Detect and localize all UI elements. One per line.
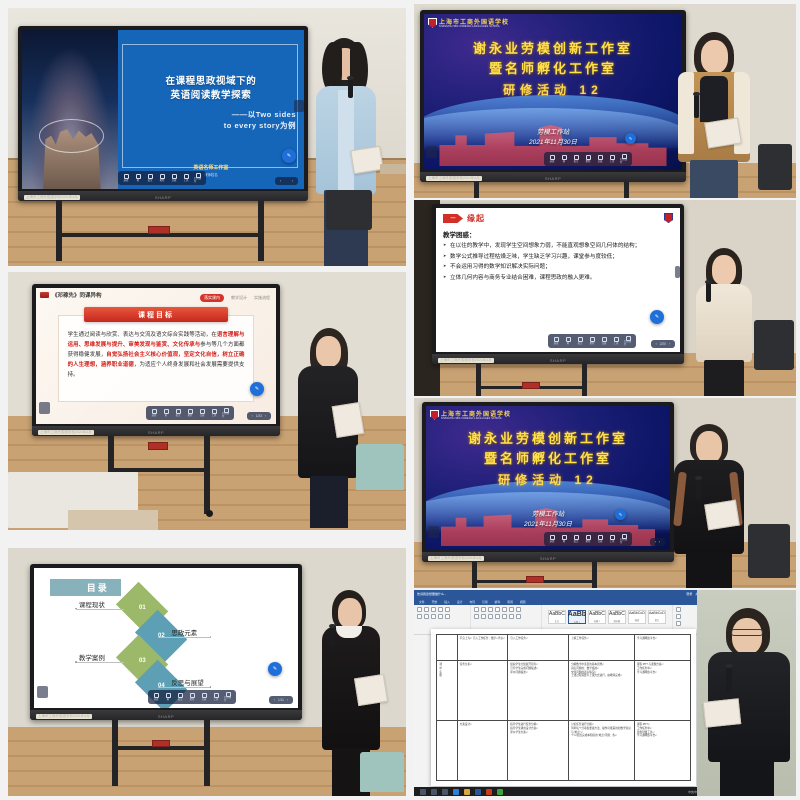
font-color-icon[interactable] (445, 614, 450, 619)
marker-icon[interactable]: 批注 (576, 336, 584, 346)
sort-icon[interactable] (509, 607, 514, 612)
display-nameplate (148, 442, 168, 450)
shape-icon[interactable]: 工具 (212, 692, 220, 702)
brand-mark-icon (40, 292, 49, 298)
display-nameplate (148, 226, 170, 234)
tv-brand: SHARP (540, 556, 556, 561)
screen-watermark: 上海市工商外国语学校2021年4月 (426, 176, 482, 181)
side-tray-icon[interactable] (426, 146, 437, 158)
list-item: 不会运用习得的数学知识解决实际问题； (443, 263, 673, 272)
whiteboard-pager[interactable]: ‹ 1/23 › (247, 412, 271, 420)
undo-icon[interactable]: 回到课件 (620, 534, 628, 544)
display-nameplate (526, 576, 544, 583)
row-label (437, 721, 457, 781)
tv-brand: SHARP (155, 195, 171, 200)
table-cell: 了解工作任务↵ (569, 635, 635, 661)
slide-subtitle-block: 劳模工作站 2021年11月30日 (424, 128, 682, 148)
table-cell: 分解数学中涉及的基本思想↵ 真实问题的：数学描述↵ 交流问题的表征情况↵ 上述过… (569, 661, 635, 721)
wechat-icon[interactable] (497, 789, 503, 795)
slide-section-header: 一 缘起 (443, 213, 673, 224)
side-tray-icon[interactable] (428, 526, 439, 538)
screen-watermark: 上海市工商外国语学校2021年4月 (38, 430, 94, 435)
italic-icon[interactable] (424, 614, 429, 619)
glasses-icon (731, 629, 763, 636)
marker-icon[interactable]: 批注 (146, 173, 154, 183)
style-strong[interactable]: AaBbCcD要点 (648, 610, 666, 624)
table-cell: 讨论任务进行分解↵ 列举每个分项各要素方法、操作可能采用的数学知识与“难点”↵ … (569, 721, 635, 781)
pen-circle-icon[interactable]: ✎ (650, 310, 664, 324)
find-icon[interactable] (676, 607, 681, 612)
row-label: 课 中 实 施 (437, 661, 457, 721)
windows-taskbar[interactable]: 中文(中国) (414, 787, 704, 796)
podium (68, 510, 158, 530)
tab-design: 教学设计 (231, 295, 247, 301)
multilevel-icon[interactable] (488, 607, 493, 612)
display-nameplate (152, 740, 170, 747)
presenter-person (308, 38, 378, 266)
table-cell: 指导学生进行任务分解↵ 指导学生通用设计方案↵ 评价学生方案↵ (508, 721, 569, 781)
whiteboard-pager[interactable]: ‹ 1/11 › (269, 696, 293, 704)
slide-frame (122, 44, 299, 168)
slide-tabs: 落实课内 教学设计 实施流程 (200, 294, 270, 302)
whiteboard-pager[interactable]: ‹ 2/20 › (651, 340, 675, 348)
table-row: 不宜上为↵ 引入工作任务：数字+学业↵ 引入工作任务↵ 了解工作任务↵ 学习通网… (437, 635, 690, 661)
align-left-icon[interactable] (474, 614, 479, 619)
align-right-icon[interactable] (488, 614, 493, 619)
list-item: 在以往的教学中，发现学生空间想象力弱，不能直观想象空间几何体的结构； (443, 242, 673, 251)
whiteboard-pager[interactable]: ‹ › (650, 538, 665, 546)
marker-icon[interactable]: 批注 (174, 408, 182, 418)
pen-icon[interactable]: 笔 (164, 692, 172, 702)
side-tray-icon[interactable] (37, 686, 48, 698)
marker-icon[interactable]: 批注 (176, 692, 184, 702)
shape-icon[interactable]: 工具 (608, 534, 616, 544)
undo-icon[interactable]: 回到课件 (222, 408, 230, 418)
tab-insert[interactable]: 插入 (444, 600, 450, 604)
display-screen: 上海市工商外国语学校 SHANGHAI SBC FOREIGN LANGUAGE… (424, 14, 682, 170)
teal-chair (356, 444, 404, 490)
pager-next-icon[interactable]: › (292, 179, 293, 183)
frame-icon[interactable]: 白板 (198, 408, 206, 418)
pager-count: 1/11 (278, 698, 284, 702)
tv-brand: SHARP (545, 176, 561, 181)
powerpoint-icon[interactable] (486, 789, 492, 795)
section-title: 缘起 (467, 213, 485, 224)
pager-prev-icon[interactable]: ‹ (656, 342, 657, 346)
panel-contents-slide: 目录 01 02 03 04 课程现状 思政元素 (8, 548, 406, 796)
undo-icon[interactable]: 回到课件 (620, 154, 628, 164)
tab-view[interactable]: 视图 (520, 600, 526, 604)
card-ribbon: 课程目标 (84, 307, 228, 322)
slide-workshop-title: 上海市工商外国语学校 SHANGHAI SBC FOREIGN LANGUAGE… (426, 406, 670, 550)
underline-icon[interactable] (431, 614, 436, 619)
interactive-display[interactable]: 《邓稼先》同课异构 落实课内 教学设计 实施流程 课程目标 学生通过阅读与欣赏、… (32, 284, 280, 436)
pen-circle-icon[interactable]: ✎ (615, 509, 626, 520)
eraser-icon[interactable]: 擦除 (584, 154, 592, 164)
undo-icon[interactable]: 回到课件 (224, 692, 232, 702)
pen-icon[interactable]: 笔 (134, 173, 142, 183)
pen-icon[interactable]: 笔 (560, 154, 568, 164)
frame-icon[interactable]: 白板 (600, 336, 608, 346)
interactive-display[interactable]: 目录 01 02 03 04 课程现状 思政元素 (30, 564, 302, 720)
search-icon[interactable] (431, 789, 437, 795)
office-chair (326, 190, 372, 230)
slide-title-block: 谢永业劳模创新工作室 暨名师孵化工作室 研修活动 12 (426, 429, 670, 488)
pager-prev-icon[interactable]: ‹ (280, 179, 281, 183)
whiteboard-toolbar[interactable]: 选择 笔 批注 擦除 白板 工具 回到课件 (148, 690, 236, 704)
panel-teaching-problems-slide: 一 缘起 教学困惑： 在以往的教学中，发现学生空间想象力弱，不能直观想象空间几何… (414, 200, 796, 396)
pen-icon[interactable]: 笔 (560, 534, 568, 544)
tab-file[interactable]: 文件 (419, 600, 425, 604)
align-center-icon[interactable] (481, 614, 486, 619)
undo-icon[interactable]: 回到课件 (194, 173, 202, 183)
screen-watermark: 上海市工商外国语学校2021年4月 (24, 195, 80, 200)
shape-icon[interactable]: 工具 (612, 336, 620, 346)
whiteboard-toolbar[interactable]: 选择 笔 批注 擦除 白板 工具 回到课件 (548, 334, 636, 348)
style-normal[interactable]: AaBbC正文 (548, 610, 566, 624)
cursor-icon[interactable]: 选择 (152, 692, 160, 702)
shape-icon[interactable]: 工具 (608, 154, 616, 164)
pen-icon[interactable]: 笔 (564, 336, 572, 346)
table-cell: 学习通网络平台↵ (634, 635, 690, 661)
pen-icon[interactable]: 笔 (162, 408, 170, 418)
show-marks-icon[interactable] (516, 607, 521, 612)
table-cell: 课程 PPT 与课题方案↵ 工作任务单↵ 学习通网络平台↵ (634, 661, 690, 721)
pager-prev-icon[interactable]: ‹ (655, 540, 656, 544)
office-chair (754, 320, 794, 370)
pen-circle-icon[interactable]: ✎ (625, 133, 636, 144)
frame-icon[interactable]: 白板 (170, 173, 178, 183)
eraser-icon[interactable]: 擦除 (584, 534, 592, 544)
slide-header: 《邓稼先》同课异构 (40, 291, 102, 299)
presenter-person (296, 328, 362, 528)
section-number: 一 (443, 214, 463, 223)
display-screen: 在课程思政视域下的 英语阅读教学探索 ——以Two sides to every… (22, 30, 304, 189)
cursor-icon[interactable]: 选择 (548, 154, 556, 164)
interactive-display[interactable]: 上海市工商外国语学校 SHANGHAI SBC FOREIGN LANGUAGE… (422, 402, 674, 562)
contents-label-02: 思政元素 (171, 627, 197, 637)
table-row: 课 中 实 施 任务分析↵ 组织学生分组展开思考↵ 引导学生完成问题描述↵ 评价… (437, 661, 690, 721)
whiteboard-toolbar[interactable]: 选择 笔 批注 擦除 白板 工具 回到课件 (146, 406, 234, 420)
highlight-icon[interactable] (438, 614, 443, 619)
tab-mailings[interactable]: 邮件 (495, 600, 501, 604)
whiteboard-toolbar[interactable]: 选择 笔 批注 擦除 白板 工具 回到课件 (544, 152, 632, 166)
screen-watermark: 上海市工商外国语学校2021年4月 (438, 358, 494, 363)
display-screen: 一 缘起 教学困惑： 在以往的教学中，发现学生空间想象力弱，不能直观想象空间几何… (436, 208, 680, 352)
pager-count: 2/20 (660, 342, 666, 346)
presenter-person (694, 248, 756, 396)
borders-icon[interactable] (516, 614, 521, 619)
eraser-icon[interactable]: 擦除 (588, 336, 596, 346)
frame-icon[interactable]: 白板 (596, 154, 604, 164)
pager-count: 1/23 (256, 414, 262, 418)
panel-english-reading-title-slide: 在课程思政视域下的 英语阅读教学探索 ——以Two sides to every… (8, 8, 406, 266)
frame-icon[interactable]: 白板 (596, 534, 604, 544)
shape-icon[interactable]: 工具 (210, 408, 218, 418)
office-chair (748, 524, 790, 578)
cursor-icon[interactable]: 选择 (150, 408, 158, 418)
whiteboard-toolbar[interactable]: 选择 笔 批注 擦除 白板 工具 回到课件 (118, 171, 206, 185)
contents-heading: 目录 (50, 579, 121, 596)
pager-next-icon[interactable]: › (659, 540, 660, 544)
panel-word-document-screen: 告诉我您想要做什么... 登录 共享 文件 开始 插入 设计 布局 引用 邮件 … (414, 590, 796, 796)
style-subtitle[interactable]: AaBbC副标题 (608, 610, 626, 624)
frame-icon[interactable]: 白板 (200, 692, 208, 702)
screen-watermark: 上海市工商外国语学校2021年4月 (36, 714, 92, 719)
office-chair (758, 144, 792, 190)
slide-card: 课程目标 学生通过阅读与欣赏、表达与交流及语文综合实践等活动，在语言理解与运用、… (58, 315, 255, 402)
tv-brand: SHARP (550, 358, 566, 363)
pager-next-icon[interactable]: › (265, 414, 266, 418)
tab-active: 落实课内 (200, 294, 224, 302)
school-logo: 上海市工商外国语学校 SHANGHAI SBC FOREIGN LANGUAGE… (428, 17, 509, 28)
pager-prev-icon[interactable]: ‹ (252, 414, 253, 418)
side-tray-icon[interactable] (294, 100, 304, 112)
screen-watermark: 上海市工商外国语学校2021年4月 (428, 556, 484, 561)
slide-title-block: 谢永业劳模创新工作室 暨名师孵化工作室 研修活动 12 (424, 39, 682, 98)
list-item: 数学公式推导过程枯燥乏味，学生缺乏学习兴趣，课堂参与度较低； (443, 253, 673, 262)
word-search-hint[interactable]: 告诉我您想要做什么... (417, 592, 447, 596)
word-ribbon-tabs[interactable]: 文件 开始 插入 设计 布局 引用 邮件 审阅 视图 (414, 598, 704, 605)
tv-brand: SHARP (158, 714, 174, 719)
change-case-icon[interactable] (438, 607, 443, 612)
word-signin-button[interactable]: 登录 (686, 592, 692, 596)
side-tray-icon[interactable] (39, 402, 50, 414)
slide-contents: 目录 01 02 03 04 课程现状 思政元素 (34, 568, 298, 708)
tab-references[interactable]: 引用 (482, 600, 488, 604)
panel-course-objective-slide: 《邓稼先》同课异构 落实课内 教学设计 实施流程 课程目标 学生通过阅读与欣赏、… (8, 272, 406, 530)
eraser-icon[interactable]: 擦除 (188, 692, 196, 702)
line-spacing-icon[interactable] (502, 614, 507, 619)
slide-teaching-problems: 一 缘起 教学困惑： 在以往的教学中，发现学生空间想象力弱，不能直观想象空间几何… (436, 208, 680, 352)
panel-workshop-title-slide-b: 上海市工商外国语学校 SHANGHAI SBC FOREIGN LANGUAGE… (414, 398, 796, 588)
decrease-indent-icon[interactable] (495, 607, 500, 612)
tab-layout[interactable]: 布局 (469, 600, 475, 604)
slide-course-objective: 《邓稼先》同课异构 落实课内 教学设计 实施流程 课程目标 学生通过阅读与欣赏、… (36, 288, 276, 424)
slide-subtitle-block: 劳模工作站 2021年11月30日 (426, 510, 670, 530)
slide-workshop-title: 上海市工商外国语学校 SHANGHAI SBC FOREIGN LANGUAGE… (424, 14, 682, 170)
select-icon[interactable] (676, 621, 681, 626)
card-body: 学生通过阅读与欣赏、表达与交流及语文综合实践等活动，在语言理解与运用、思维发展与… (68, 330, 245, 380)
table-cell: 任务分析↵ (457, 661, 508, 721)
pager-next-icon[interactable]: › (287, 698, 288, 702)
table-cell: 不宜上为↵ 引入工作任务：数字+学业↵ (457, 635, 508, 661)
grow-font-icon[interactable] (424, 607, 429, 612)
display-screen: 目录 01 02 03 04 课程现状 思政元素 (34, 568, 298, 708)
eraser-icon[interactable]: 擦除 (158, 173, 166, 183)
slide-bullet-list: 在以往的教学中，发现学生空间想象力弱，不能直观想象空间几何体的结构； 数学公式推… (443, 242, 673, 283)
table-cell: 课程 PPT↵ 工作任务单↵ 思维导图工具↵ 学习通网络平台↵ (634, 721, 690, 781)
contents-label-03: 教学案例 (79, 652, 105, 662)
justify-icon[interactable] (495, 614, 500, 619)
display-screen: 上海市工商外国语学校 SHANGHAI SBC FOREIGN LANGUAGE… (426, 406, 670, 550)
slide-english-title: 在课程思政视域下的 英语阅读教学探索 ——以Two sides to every… (22, 30, 304, 189)
pen-circle-icon[interactable]: ✎ (282, 149, 296, 163)
teal-chair (360, 752, 404, 792)
side-tray-icon[interactable] (675, 266, 680, 278)
shield-icon (430, 410, 439, 420)
shrink-font-icon[interactable] (431, 607, 436, 612)
pager-prev-icon[interactable]: ‹ (274, 698, 275, 702)
shield-icon (428, 18, 437, 28)
cursor-icon[interactable]: 选择 (548, 534, 556, 544)
tv-brand: SHARP (148, 430, 164, 435)
side-desk (380, 164, 406, 174)
contents-label-04: 反思与展望 (171, 677, 204, 687)
display-nameplate (522, 382, 540, 389)
shading-icon[interactable] (509, 614, 514, 619)
school-logo: 上海市工商外国语学校 SHANGHAI SBC FOREIGN LANGUAGE… (430, 409, 511, 420)
tab-review[interactable]: 审阅 (507, 600, 513, 604)
bold-icon[interactable] (417, 614, 422, 619)
whiteboard-pager[interactable]: ‹ title › (275, 177, 298, 185)
shape-icon[interactable]: 工具 (182, 173, 190, 183)
start-icon[interactable] (420, 789, 426, 795)
task-view-icon[interactable] (442, 789, 448, 795)
style-heading-1[interactable]: AaBb标题 1 (568, 610, 586, 624)
interactive-display[interactable]: 上海市工商外国语学校 SHANGHAI SBC FOREIGN LANGUAGE… (420, 10, 686, 182)
eraser-icon[interactable]: 擦除 (186, 408, 194, 418)
contents-label-01: 课程现状 (79, 599, 105, 609)
tab-design[interactable]: 设计 (457, 600, 463, 604)
style-emphasis[interactable]: AaBbCcD强调 (628, 610, 646, 624)
font-size-icon[interactable] (417, 607, 422, 612)
list-item: 立体几何内容与商务专业结合困难，课程思政的融入更难。 (443, 274, 673, 283)
cursor-icon[interactable]: 选择 (552, 336, 560, 346)
slide-photo (22, 30, 118, 189)
row-label (437, 635, 457, 661)
photo-collage: 在课程思政视域下的 英语阅读教学探索 ——以Two sides to every… (0, 0, 800, 800)
pen-circle-icon[interactable]: ✎ (250, 382, 264, 396)
bullets-icon[interactable] (474, 607, 479, 612)
presenter-person (670, 424, 748, 588)
document-page[interactable]: 不宜上为↵ 引入工作任务：数字+学业↵ 引入工作任务↵ 了解工作任务↵ 学习通网… (431, 629, 695, 786)
style-heading-2[interactable]: AaBbC标题 2 (588, 610, 606, 624)
table-cell: 引入工作任务↵ (508, 635, 569, 661)
marker-icon[interactable]: 批注 (572, 154, 580, 164)
word-titlebar: 告诉我您想要做什么... 登录 共享 (414, 590, 704, 598)
undo-icon[interactable]: 回到课件 (624, 336, 632, 346)
slide-lead: 教学困惑： (443, 229, 673, 239)
increase-indent-icon[interactable] (502, 607, 507, 612)
whiteboard-toolbar[interactable]: 选择 笔 批注 擦除 白板 工具 回到课件 (544, 532, 632, 546)
browser-icon[interactable] (453, 789, 459, 795)
panel-workshop-title-slide-a: 上海市工商外国语学校 SHANGHAI SBC FOREIGN LANGUAGE… (414, 4, 796, 198)
cursor-icon[interactable]: 选择 (122, 173, 130, 183)
table-row: 方案设计↵ 指导学生进行任务分解↵ 指导学生通用设计方案↵ 评价学生方案↵ 讨论… (437, 721, 690, 781)
marker-icon[interactable]: 批注 (572, 534, 580, 544)
table-cell: 组织学生分组展开思考↵ 引导学生完成问题描述↵ 评价问题描述↵ (508, 661, 569, 721)
presenter-person (702, 608, 794, 796)
clear-format-icon[interactable] (445, 607, 450, 612)
display-screen: 《邓稼先》同课异构 落实课内 教学设计 实施流程 课程目标 学生通过阅读与欣赏、… (36, 288, 276, 424)
pager-next-icon[interactable]: › (669, 342, 670, 346)
interactive-display[interactable]: 一 缘起 教学困惑： 在以往的教学中，发现学生空间想象力弱，不能直观想象空间几何… (432, 204, 684, 364)
pen-circle-icon[interactable]: ✎ (268, 662, 282, 676)
word-application: 告诉我您想要做什么... 登录 共享 文件 开始 插入 设计 布局 引用 邮件 … (414, 590, 796, 796)
table-cell: 方案设计↵ (457, 721, 508, 781)
numbering-icon[interactable] (481, 607, 486, 612)
presenter-person (676, 32, 752, 198)
interactive-display[interactable]: 在课程思政视域下的 英语阅读教学探索 ——以Two sides to every… (18, 26, 308, 201)
replace-icon[interactable] (676, 614, 681, 619)
file-explorer-icon[interactable] (464, 789, 470, 795)
tab-home[interactable]: 开始 (432, 600, 438, 604)
lesson-plan-table: 不宜上为↵ 引入工作任务：数字+学业↵ 引入工作任务↵ 了解工作任务↵ 学习通网… (436, 634, 690, 781)
tab-process: 实施流程 (254, 295, 270, 301)
word-icon[interactable] (475, 789, 481, 795)
